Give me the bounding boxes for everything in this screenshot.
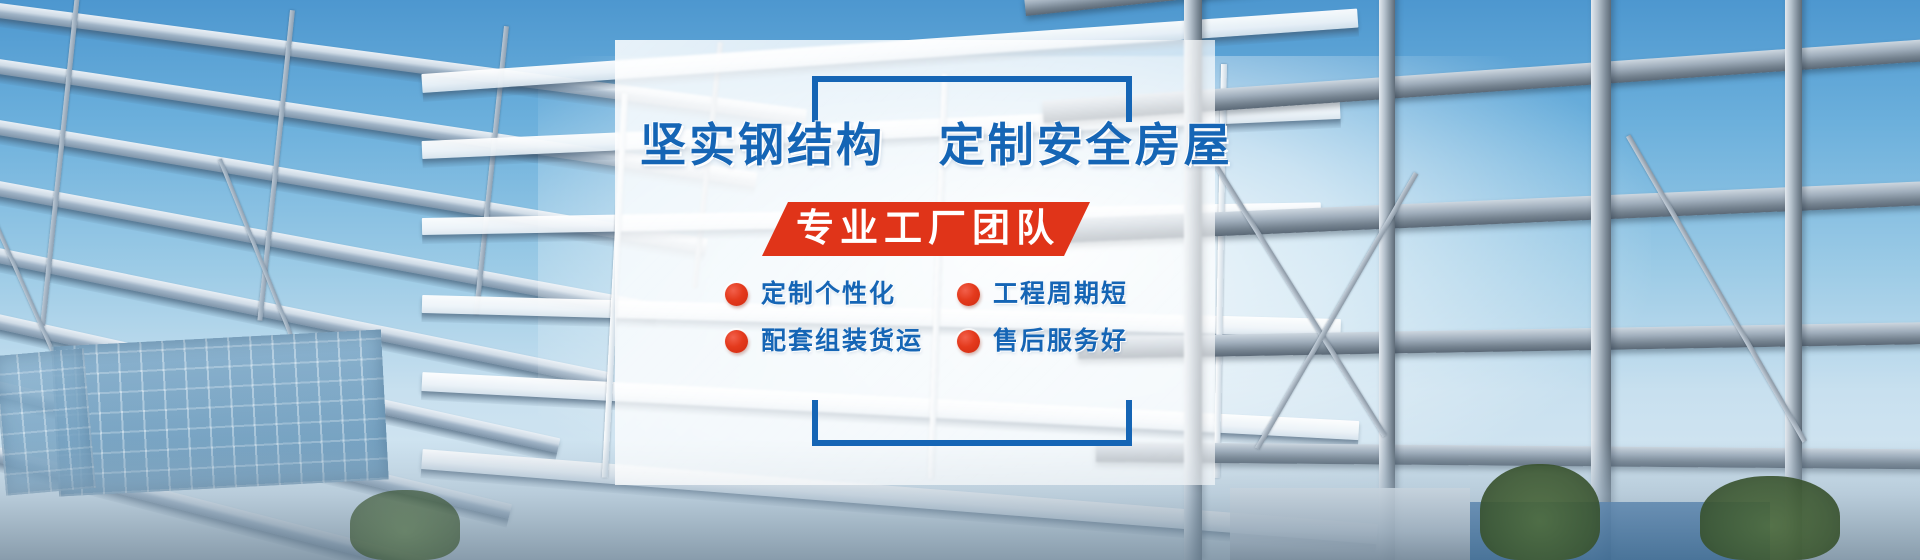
feature-label-1: 定制个性化 [761,282,896,307]
feature-label-3: 配套组装货运 [761,329,923,354]
feature-list: 定制个性化 工程周期短 配套组装货运 售后服务好 [725,282,1195,354]
red-dot-icon [725,283,748,306]
feature-item-2: 工程周期短 [957,282,1195,307]
tree [1700,476,1840,560]
red-dot-icon [957,283,980,306]
feature-item-1: 定制个性化 [725,282,957,307]
ribbon-banner: 专业工厂团队 [762,202,1090,256]
tree [350,490,460,560]
headline-part-1: 坚实钢结构 [640,119,885,171]
ribbon-label: 专业工厂团队 [796,210,1060,248]
hero-banner: 坚实钢结构 定制安全房屋 专业工厂团队 定制个性化 工程周期短 配套组装货运 售… [0,0,1920,560]
feature-item-4: 售后服务好 [957,329,1195,354]
far-building [1230,488,1470,560]
red-dot-icon [725,330,748,353]
feature-label-4: 售后服务好 [993,329,1128,354]
headline: 坚实钢结构 定制安全房屋 [640,122,1200,168]
content-panel [615,40,1215,485]
feature-label-2: 工程周期短 [993,282,1128,307]
red-dot-icon [957,330,980,353]
tree [1480,464,1600,560]
feature-item-3: 配套组装货运 [725,329,957,354]
headline-part-2: 定制安全房屋 [939,119,1233,171]
